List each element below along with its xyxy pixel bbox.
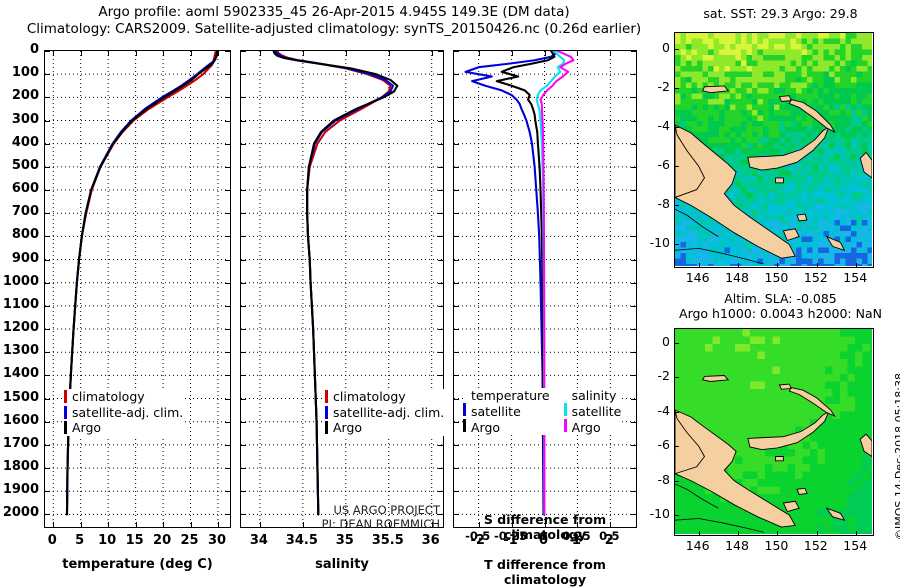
y-tick-right xyxy=(225,283,230,284)
map-lat-tick xyxy=(675,166,679,167)
y-tick xyxy=(241,97,246,98)
map-lat-label: -8 xyxy=(640,472,670,487)
map-lat-tick xyxy=(675,244,679,245)
map-lon-label: 154 xyxy=(835,538,875,553)
y-tick-right xyxy=(225,213,230,214)
sla-map-title: Altim. SLA: -0.085 Argo h1000: 0.0043 h2… xyxy=(668,291,893,321)
map-lat-label: 0 xyxy=(640,40,670,55)
difference-legend-item: Argo xyxy=(564,419,622,435)
y-tick-right xyxy=(631,190,636,191)
temperature-legend-item: Argo xyxy=(64,420,183,436)
y-tick-right xyxy=(631,144,636,145)
map-lon-label: 146 xyxy=(678,270,718,285)
map-lon-tick xyxy=(738,531,739,535)
y-tick xyxy=(454,74,459,75)
salinity-profile-panel xyxy=(240,50,444,528)
y-tick-right xyxy=(438,260,443,261)
y-tick-right xyxy=(438,491,443,492)
x-tick-top xyxy=(53,51,54,56)
y-tick-right xyxy=(631,352,636,353)
x-tick xyxy=(108,522,109,527)
sla-title-line-1: Altim. SLA: -0.085 xyxy=(668,291,893,306)
temperature-legend-item: satellite-adj. clim. xyxy=(64,405,183,421)
map-lon-label: 148 xyxy=(717,270,757,285)
y-tick xyxy=(241,283,246,284)
map-lon-tick xyxy=(856,531,857,535)
map-lat-label: 0 xyxy=(640,334,670,349)
map-lon-label: 150 xyxy=(756,538,796,553)
map-lat-label: -10 xyxy=(640,506,670,521)
depth-tick-label: 800 xyxy=(0,227,39,242)
legend-label: Argo xyxy=(572,420,601,435)
y-tick-right xyxy=(631,121,636,122)
map-lat-label: -6 xyxy=(640,437,670,452)
y-tick xyxy=(241,422,246,423)
map-lat-tick xyxy=(675,49,679,50)
y-tick-right xyxy=(631,468,636,469)
map-lat-label: -10 xyxy=(640,235,670,250)
y-tick xyxy=(241,329,246,330)
map-lat-tick xyxy=(675,412,679,413)
depth-tick-label: 1700 xyxy=(0,436,39,451)
map-lat-label: -2 xyxy=(640,368,670,383)
y-tick xyxy=(241,167,246,168)
x-tick-top xyxy=(610,51,611,56)
y-tick-right xyxy=(631,399,636,400)
legend-label: climatology xyxy=(72,389,145,405)
legend-label: satellite xyxy=(572,404,622,419)
y-tick xyxy=(45,375,50,376)
y-tick xyxy=(454,468,459,469)
depth-tick-label: 100 xyxy=(0,65,39,80)
map-lat-tick xyxy=(675,343,679,344)
legend-label: satellite-adj. clim. xyxy=(333,405,444,421)
plot-title: Argo profile: aoml 5902335_45 26-Apr-201… xyxy=(0,4,668,38)
y-tick-right xyxy=(438,306,443,307)
y-tick-right xyxy=(438,74,443,75)
y-tick-right xyxy=(438,283,443,284)
y-tick-right xyxy=(438,167,443,168)
y-tick-right xyxy=(631,283,636,284)
depth-tick-label: 1600 xyxy=(0,413,39,428)
salinity-legend-item: climatology xyxy=(325,389,444,405)
depth-tick-label: 0 xyxy=(0,42,39,57)
temperature-difference-axis-label: T difference from climatology xyxy=(443,557,647,587)
y-tick xyxy=(241,399,246,400)
x-tick-top xyxy=(81,51,82,56)
depth-tick-label: 1100 xyxy=(0,297,39,312)
temperature-axis-label: temperature (deg C) xyxy=(44,557,231,572)
legend-label: Argo xyxy=(72,420,101,436)
map-lon-label: 152 xyxy=(796,538,836,553)
project-credit: US ARGO PROJECT PI: DEAN ROEMMICH xyxy=(300,503,440,531)
x-tick xyxy=(53,522,54,527)
y-tick-right xyxy=(438,97,443,98)
depth-tick-label: 700 xyxy=(0,204,39,219)
legend-header: temperature xyxy=(471,388,550,403)
x-tick-top xyxy=(136,51,137,56)
y-tick xyxy=(241,491,246,492)
y-tick xyxy=(241,190,246,191)
salinity-legend-item: Argo xyxy=(325,420,444,436)
salinity-legend-item: satellite-adj. clim. xyxy=(325,405,444,421)
y-tick xyxy=(454,190,459,191)
depth-tick-label: 1300 xyxy=(0,343,39,358)
x-tick-top xyxy=(346,51,347,56)
legend-header: salinity xyxy=(572,388,622,403)
x-tick-top xyxy=(479,51,480,56)
y-tick-right xyxy=(225,422,230,423)
y-tick xyxy=(241,260,246,261)
y-tick xyxy=(454,213,459,214)
y-tick-right xyxy=(225,121,230,122)
difference-legend: temperaturesatelliteArgosalinitysatellit… xyxy=(463,388,621,435)
map-lat-tick xyxy=(675,127,679,128)
y-tick xyxy=(45,399,50,400)
depth-tick-label: 2000 xyxy=(0,505,39,520)
map-lon-label: 146 xyxy=(678,538,718,553)
y-tick-right xyxy=(225,375,230,376)
y-tick-right xyxy=(225,491,230,492)
x-tick-top xyxy=(303,51,304,56)
map-lat-tick xyxy=(675,205,679,206)
y-tick-right xyxy=(631,422,636,423)
y-tick xyxy=(241,144,246,145)
map-lat-label: -4 xyxy=(640,403,670,418)
difference-legend-column: salinitysatelliteArgo xyxy=(564,388,622,435)
y-tick xyxy=(45,283,50,284)
y-tick-right xyxy=(225,306,230,307)
y-tick-right xyxy=(631,213,636,214)
temperature-profile-plot xyxy=(45,51,229,526)
map-lon-tick xyxy=(777,263,778,267)
y-tick-right xyxy=(438,121,443,122)
y-tick-right xyxy=(225,399,230,400)
y-tick-right xyxy=(438,352,443,353)
difference-profile-plot xyxy=(454,51,635,526)
map-lon-tick xyxy=(699,531,700,535)
x-tick-top xyxy=(512,51,513,56)
x-tick xyxy=(81,522,82,527)
map-lat-label: -8 xyxy=(640,196,670,211)
depth-tick-label: 900 xyxy=(0,251,39,266)
y-tick xyxy=(45,422,50,423)
y-tick-right xyxy=(225,514,230,515)
y-tick-right xyxy=(438,329,443,330)
difference-legend-item: Argo xyxy=(463,419,550,435)
legend-color-swatch xyxy=(325,390,328,403)
y-tick-right xyxy=(631,236,636,237)
y-tick xyxy=(45,236,50,237)
salinity-profile-plot xyxy=(241,51,442,526)
y-tick-right xyxy=(438,144,443,145)
y-tick xyxy=(45,352,50,353)
depth-tick-label: 200 xyxy=(0,88,39,103)
y-tick-right xyxy=(225,74,230,75)
legend-color-swatch xyxy=(564,403,567,416)
depth-tick-label: 500 xyxy=(0,158,39,173)
legend-color-swatch xyxy=(463,419,466,432)
y-tick xyxy=(45,445,50,446)
y-tick-right xyxy=(225,144,230,145)
y-tick-right xyxy=(225,260,230,261)
y-tick-right xyxy=(225,97,230,98)
map-lon-label: 150 xyxy=(756,270,796,285)
depth-tick-label: 1800 xyxy=(0,459,39,474)
x-tick xyxy=(163,522,164,527)
map-lon-label: 148 xyxy=(717,538,757,553)
y-tick-right xyxy=(438,213,443,214)
sst-map-image xyxy=(675,33,872,266)
x-tick xyxy=(136,522,137,527)
x-tick-top xyxy=(389,51,390,56)
y-tick xyxy=(45,97,50,98)
y-tick xyxy=(241,236,246,237)
y-tick xyxy=(45,121,50,122)
map-lat-label: -2 xyxy=(640,79,670,94)
x-tick-top xyxy=(545,51,546,56)
map-lat-tick xyxy=(675,377,679,378)
y-tick xyxy=(241,74,246,75)
depth-tick-label: 1500 xyxy=(0,390,39,405)
title-line-1: Argo profile: aoml 5902335_45 26-Apr-201… xyxy=(0,4,668,21)
y-tick-right xyxy=(438,375,443,376)
legend-color-swatch xyxy=(325,421,328,434)
y-tick xyxy=(454,97,459,98)
difference-profile-panel xyxy=(453,50,637,528)
map-lat-tick xyxy=(675,446,679,447)
y-tick-right xyxy=(225,190,230,191)
y-tick xyxy=(454,399,459,400)
y-tick-right xyxy=(631,306,636,307)
depth-tick-label: 1000 xyxy=(0,274,39,289)
y-tick-right xyxy=(438,190,443,191)
sst-map-title: sat. SST: 29.3 Argo: 29.8 xyxy=(668,6,893,21)
y-tick-right xyxy=(438,468,443,469)
y-tick-right xyxy=(225,51,230,52)
y-tick xyxy=(241,514,246,515)
x-tick-top xyxy=(260,51,261,56)
x-tick-top xyxy=(108,51,109,56)
y-tick xyxy=(45,491,50,492)
depth-tick-label: 1200 xyxy=(0,320,39,335)
y-tick-right xyxy=(631,329,636,330)
y-tick-right xyxy=(225,167,230,168)
depth-tick-label: 300 xyxy=(0,112,39,127)
y-tick xyxy=(454,260,459,261)
map-lon-tick xyxy=(817,263,818,267)
y-tick-right xyxy=(631,491,636,492)
y-tick-right xyxy=(631,260,636,261)
y-tick xyxy=(454,121,459,122)
legend-label: satellite xyxy=(471,404,521,419)
salinity-axis-label: salinity xyxy=(240,557,444,572)
y-tick xyxy=(454,352,459,353)
y-tick xyxy=(45,213,50,214)
y-tick xyxy=(45,167,50,168)
y-tick-right xyxy=(225,352,230,353)
y-tick xyxy=(45,260,50,261)
x-tick-top xyxy=(191,51,192,56)
y-tick-right xyxy=(631,51,636,52)
x-tick-top xyxy=(577,51,578,56)
y-tick-right xyxy=(631,74,636,75)
project-name: US ARGO PROJECT xyxy=(300,503,440,517)
depth-tick-label: 600 xyxy=(0,181,39,196)
depth-tick-label: 1900 xyxy=(0,482,39,497)
map-lon-label: 154 xyxy=(835,270,875,285)
y-tick-right xyxy=(438,236,443,237)
x-tick xyxy=(191,522,192,527)
legend-color-swatch xyxy=(463,403,466,416)
legend-label: Argo xyxy=(471,420,500,435)
y-tick xyxy=(454,422,459,423)
y-tick xyxy=(241,445,246,446)
copyright-label: ©IMOS 14-Dec-2018 05:18:38 xyxy=(893,373,900,540)
difference-legend-item: satellite xyxy=(463,403,550,419)
salinity-legend: climatologysatellite-adj. clim.Argo xyxy=(325,389,444,436)
temperature-profile-panel xyxy=(44,50,231,528)
y-tick-right xyxy=(438,51,443,52)
y-tick-right xyxy=(631,445,636,446)
y-tick xyxy=(45,74,50,75)
temperature-legend: climatologysatellite-adj. clim.Argo xyxy=(64,389,183,436)
map-lon-tick xyxy=(738,263,739,267)
y-tick-right xyxy=(225,329,230,330)
y-tick xyxy=(45,514,50,515)
temperature-legend-item: climatology xyxy=(64,389,183,405)
y-tick xyxy=(241,375,246,376)
legend-color-swatch xyxy=(64,421,67,434)
x-tick-top xyxy=(218,51,219,56)
y-tick xyxy=(241,51,246,52)
y-tick xyxy=(454,445,459,446)
map-lon-tick xyxy=(699,263,700,267)
y-tick xyxy=(454,51,459,52)
y-tick-right xyxy=(631,375,636,376)
y-tick-right xyxy=(225,468,230,469)
x-tick xyxy=(260,522,261,527)
sla-map[interactable] xyxy=(674,328,874,536)
y-tick xyxy=(454,375,459,376)
y-tick xyxy=(45,306,50,307)
legend-color-swatch xyxy=(64,406,67,419)
y-tick-right xyxy=(631,97,636,98)
legend-label: satellite-adj. clim. xyxy=(72,405,183,421)
difference-legend-item: satellite xyxy=(564,403,622,419)
x-tick xyxy=(218,522,219,527)
y-tick xyxy=(454,491,459,492)
y-tick-right xyxy=(225,236,230,237)
y-tick xyxy=(241,468,246,469)
y-tick-right xyxy=(225,445,230,446)
legend-color-swatch xyxy=(325,406,328,419)
y-tick xyxy=(454,329,459,330)
y-tick-right xyxy=(631,167,636,168)
map-lat-tick xyxy=(675,515,679,516)
y-tick xyxy=(45,329,50,330)
y-tick xyxy=(454,306,459,307)
difference-legend-column: temperaturesatelliteArgo xyxy=(463,388,550,435)
map-lon-label: 152 xyxy=(796,270,836,285)
y-tick xyxy=(454,283,459,284)
y-tick xyxy=(45,51,50,52)
legend-label: climatology xyxy=(333,389,406,405)
title-line-2: Climatology: CARS2009. Satellite-adjuste… xyxy=(0,21,668,38)
y-tick xyxy=(45,144,50,145)
sla-title-line-2: Argo h1000: 0.0043 h2000: NaN xyxy=(668,306,893,321)
s-diff-tick-label: 0.5 xyxy=(584,529,634,543)
y-tick xyxy=(454,167,459,168)
y-tick xyxy=(45,190,50,191)
y-tick xyxy=(241,352,246,353)
y-tick xyxy=(241,121,246,122)
depth-tick-label: 1400 xyxy=(0,366,39,381)
y-tick xyxy=(241,306,246,307)
sst-map[interactable] xyxy=(674,32,874,268)
x-tick-top xyxy=(432,51,433,56)
y-tick xyxy=(454,144,459,145)
project-pi: PI: DEAN ROEMMICH xyxy=(300,517,440,531)
map-lon-tick xyxy=(817,531,818,535)
y-tick xyxy=(241,213,246,214)
sla-map-image xyxy=(675,329,872,534)
legend-color-swatch xyxy=(64,390,67,403)
legend-label: Argo xyxy=(333,420,362,436)
x-tick-top xyxy=(163,51,164,56)
map-lon-tick xyxy=(856,263,857,267)
y-tick xyxy=(45,468,50,469)
map-lat-tick xyxy=(675,88,679,89)
map-lat-tick xyxy=(675,481,679,482)
map-lon-tick xyxy=(777,531,778,535)
y-tick-right xyxy=(438,445,443,446)
depth-tick-label: 400 xyxy=(0,135,39,150)
legend-color-swatch xyxy=(564,419,567,432)
map-lat-label: -6 xyxy=(640,157,670,172)
map-lat-label: -4 xyxy=(640,118,670,133)
y-tick xyxy=(454,236,459,237)
